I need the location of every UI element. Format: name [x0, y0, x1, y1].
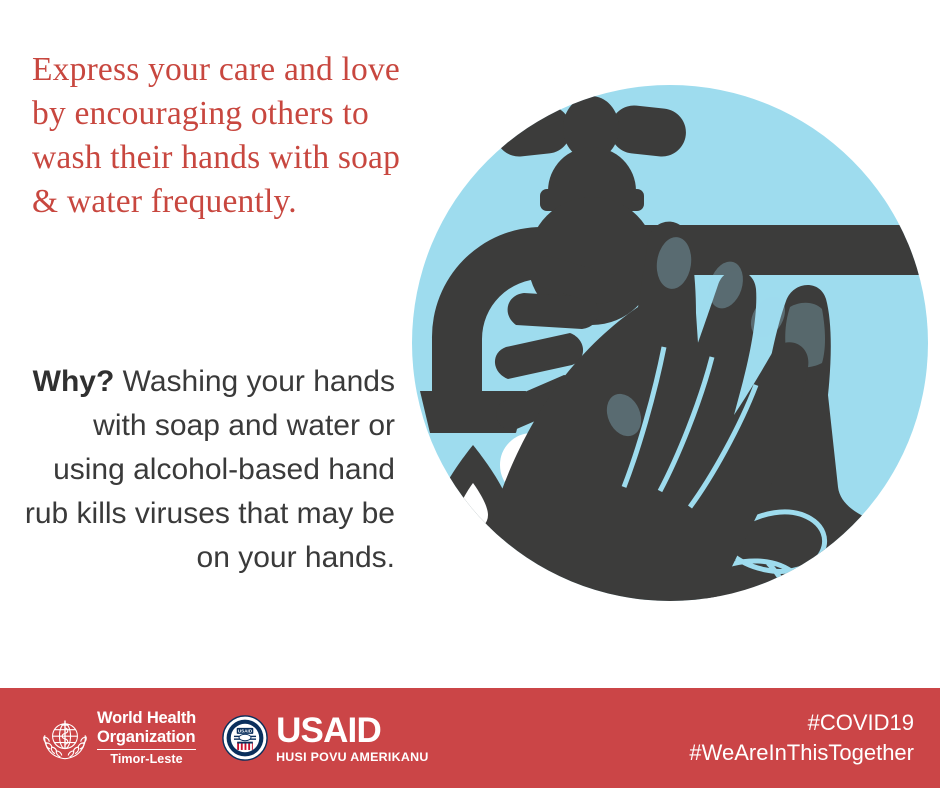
svg-text:USAID: USAID	[238, 728, 253, 733]
body-copy: Why? Washing your hands with soap and wa…	[23, 360, 395, 580]
who-name-line2: Organization	[97, 729, 196, 746]
covid-handwashing-poster: Express your care and love by encouragin…	[0, 0, 940, 788]
usaid-logo: USAID USAID HUSI POV	[222, 713, 429, 763]
who-wordmark: World Health Organization Timor-Leste	[97, 710, 196, 766]
hashtag-covid19: #COVID19	[808, 708, 914, 738]
usaid-name: USAID	[276, 713, 429, 748]
headline: Express your care and love by encouragin…	[32, 48, 402, 224]
who-logo: World Health Organization Timor-Leste	[42, 710, 196, 766]
handwashing-illustration	[412, 85, 928, 601]
who-country-label: Timor-Leste	[97, 753, 196, 766]
text-column: Express your care and love by encouragin…	[0, 0, 420, 688]
body-copy-lead: Why?	[33, 365, 115, 398]
usaid-tagline: HUSI POVU AMERIKANU	[276, 751, 429, 763]
who-divider	[97, 749, 196, 750]
handwashing-illustration-svg	[412, 85, 928, 601]
hashtag-block: #COVID19 #WeAreInThisTogether	[689, 688, 914, 788]
footer-logos: World Health Organization Timor-Leste US…	[42, 688, 429, 788]
footer-bar: World Health Organization Timor-Leste US…	[0, 688, 940, 788]
hashtag-weareinthistogether: #WeAreInThisTogether	[689, 738, 914, 768]
who-name-line1: World Health	[97, 710, 196, 727]
usaid-seal-icon: USAID	[222, 715, 268, 761]
usaid-wordmark: USAID HUSI POVU AMERIKANU	[276, 713, 429, 763]
who-emblem-icon	[42, 715, 88, 761]
